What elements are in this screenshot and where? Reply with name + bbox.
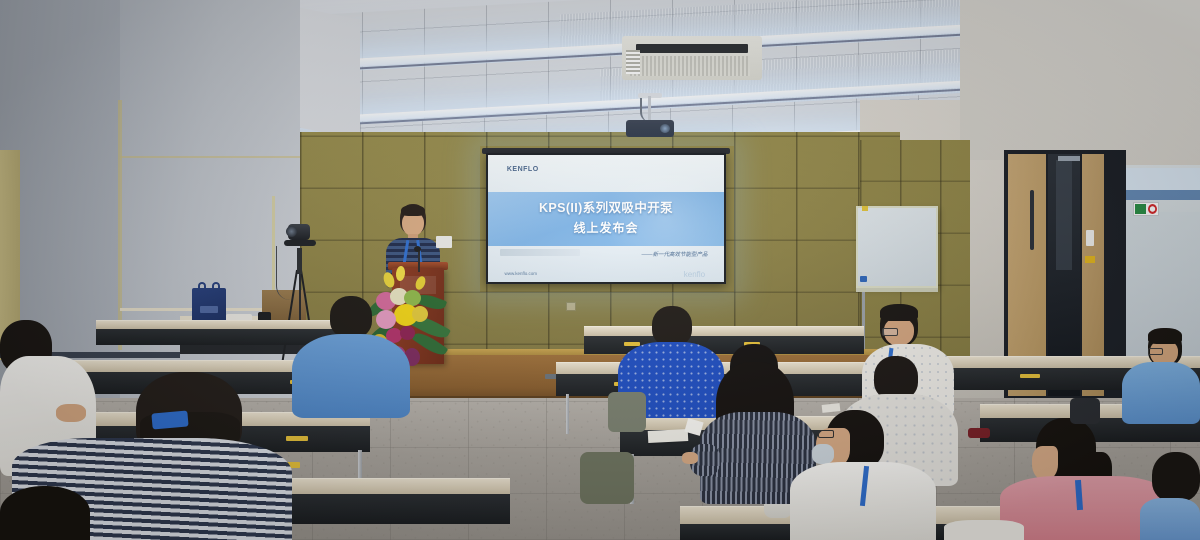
projector-cable bbox=[640, 98, 654, 122]
attendee-a3-torso bbox=[292, 334, 410, 418]
attendee-a8-face-mask bbox=[812, 444, 834, 464]
attendee-a11-torso bbox=[1122, 362, 1200, 424]
conference-room-photo: KENFLO KPS(II)系列双吸中开泵 线上发布会 ——新一代高效节能型产品… bbox=[0, 0, 1200, 540]
corridor-beyond-door bbox=[1056, 160, 1072, 270]
slide-website: www.kenflo.com bbox=[505, 271, 538, 276]
slide-title-line-2: 线上发布会 bbox=[488, 219, 724, 236]
slide-footer-band: ——新一代高效节能型产品 www.kenflo.com kenflo bbox=[488, 246, 724, 282]
attendee-a1-arm bbox=[56, 404, 86, 422]
chair-back bbox=[608, 392, 646, 432]
desk-row-4b-top bbox=[96, 320, 346, 329]
no-smoking-icon bbox=[1148, 204, 1157, 214]
notebook bbox=[648, 429, 689, 443]
attendee-a6-hair bbox=[880, 304, 918, 321]
attendee-foreground-shoulder bbox=[944, 520, 1024, 540]
podium-monitor bbox=[436, 236, 452, 248]
ac-vent-slot bbox=[636, 44, 748, 53]
slide-watermark: kenflo bbox=[684, 270, 705, 279]
right-wall-upper bbox=[960, 0, 1200, 160]
camera-cable bbox=[276, 246, 292, 300]
access-card-reader[interactable] bbox=[1086, 230, 1094, 246]
whiteboard-clip bbox=[862, 206, 868, 211]
camera-lens-icon bbox=[286, 226, 297, 237]
attendee-a11-hair bbox=[1148, 328, 1182, 344]
attendee-a8-glasses-icon bbox=[818, 430, 834, 438]
ac-grille bbox=[630, 56, 750, 76]
permitted-sign-icon bbox=[1135, 204, 1146, 214]
attendee-a4-head bbox=[652, 306, 692, 346]
wall-seam bbox=[118, 100, 122, 350]
chair-back bbox=[1070, 398, 1100, 424]
attendee-a9-face bbox=[1032, 446, 1058, 480]
desk-leg bbox=[566, 394, 569, 434]
glass-band-light bbox=[1126, 168, 1200, 190]
tote-logo bbox=[200, 306, 218, 313]
slide-tagline: ——新一代高效节能型产品 bbox=[641, 250, 707, 258]
attendee-a11-glasses-icon bbox=[1148, 348, 1163, 355]
whiteboard bbox=[856, 206, 938, 288]
chair-back bbox=[580, 452, 634, 504]
attendee-a6-glasses-icon bbox=[882, 328, 898, 336]
door-label-tag bbox=[1085, 256, 1095, 263]
slide-title-line-1: KPS(II)系列双吸中开泵 bbox=[488, 197, 724, 216]
desk-label-tag bbox=[1020, 374, 1040, 378]
wall-outlet[interactable] bbox=[566, 302, 576, 311]
door-handle-icon[interactable] bbox=[1030, 190, 1034, 250]
microphone-icon bbox=[414, 246, 421, 252]
slide-footer-chip bbox=[500, 249, 580, 255]
projection-screen: KENFLO KPS(II)系列双吸中开泵 线上发布会 ——新一代高效节能型产品… bbox=[486, 153, 726, 284]
ac-fin bbox=[626, 50, 640, 74]
presentation-slide: KENFLO KPS(II)系列双吸中开泵 线上发布会 ——新一代高效节能型产品… bbox=[488, 155, 724, 282]
attendee-a10-head bbox=[1152, 452, 1200, 502]
attendee-foreground-head bbox=[0, 486, 90, 540]
attendee-a3-head bbox=[330, 296, 372, 338]
projector-lens-icon bbox=[660, 124, 670, 133]
phone-device bbox=[968, 428, 990, 438]
whiteboard-magnet bbox=[860, 276, 867, 282]
attendee-a10-torso bbox=[1140, 498, 1200, 540]
kenflo-logo: KENFLO bbox=[507, 166, 539, 173]
whiteboard-tray bbox=[856, 288, 938, 292]
speaker-hair-top bbox=[401, 205, 425, 216]
door-transom bbox=[1058, 156, 1080, 161]
tripod-column bbox=[297, 248, 302, 274]
desk-label-tag bbox=[286, 436, 308, 441]
attendee-a5-hand bbox=[682, 452, 698, 464]
camera-mount-plate bbox=[284, 240, 316, 246]
glass-band-blue bbox=[1126, 190, 1200, 200]
desk-row-4-top bbox=[584, 326, 864, 336]
attendee-a2-lanyard bbox=[151, 410, 188, 429]
wall-trim bbox=[120, 156, 300, 158]
